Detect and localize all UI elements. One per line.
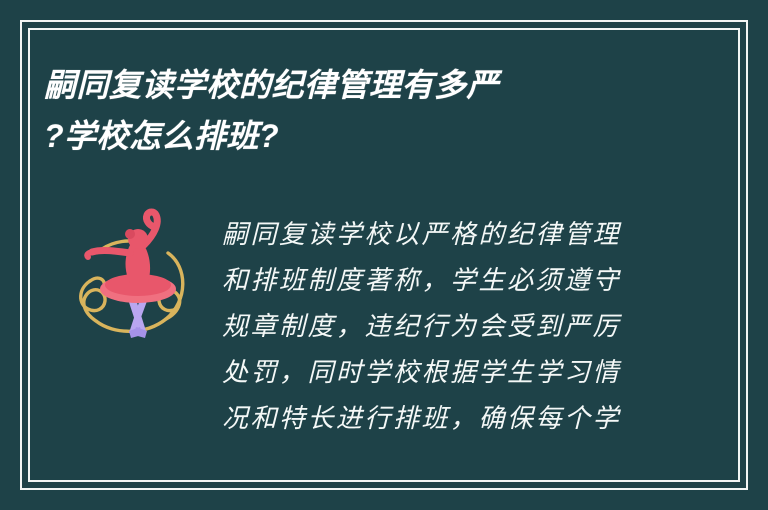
body-paragraph: 嗣同复读学校以严格的纪律管理 和排班制度著称，学生必须遵守 规章制度，违纪行为会… xyxy=(222,212,682,442)
body-line-1: 嗣同复读学校以严格的纪律管理 xyxy=(222,212,682,258)
body-line-2: 和排班制度著称，学生必须遵守 xyxy=(222,258,682,304)
page-title: 嗣同复读学校的纪律管理有多严 ?学校怎么排班? xyxy=(44,60,684,162)
title-line-2: ?学校怎么排班? xyxy=(44,111,684,162)
ballerina-illustration xyxy=(68,205,198,345)
body-line-5: 况和特长进行排班，确保每个学 xyxy=(222,396,682,442)
body-line-3: 规章制度，违纪行为会受到严厉 xyxy=(222,304,682,350)
body-line-4: 处罚，同时学校根据学生学习情 xyxy=(222,350,682,396)
poster-canvas: 嗣同复读学校的纪律管理有多严 ?学校怎么排班? xyxy=(0,0,768,510)
title-line-1: 嗣同复读学校的纪律管理有多严 xyxy=(44,60,684,111)
